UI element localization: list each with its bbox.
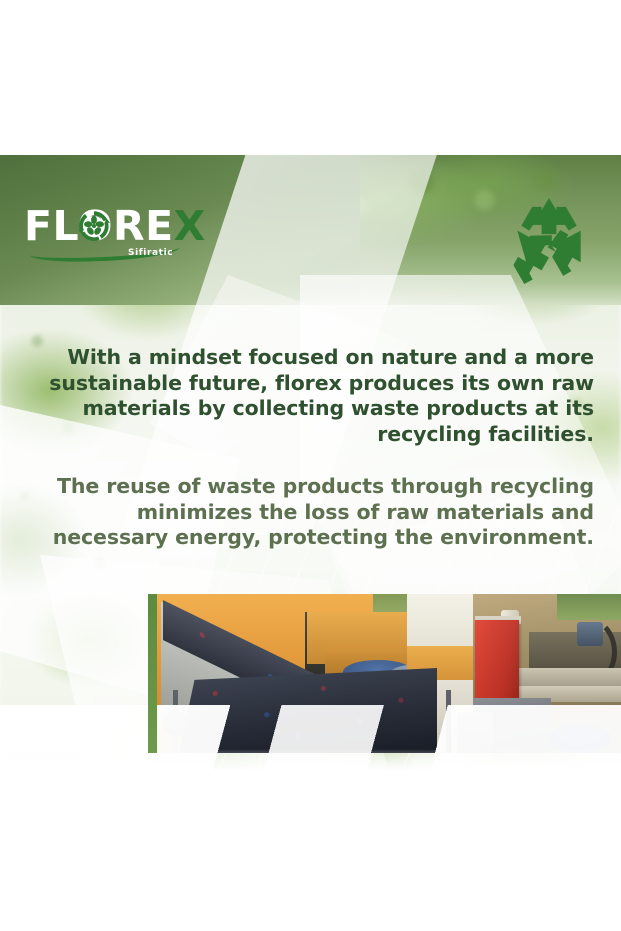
- recycle-flower-icon: [75, 207, 113, 245]
- brand-logo[interactable]: FLOREX: [24, 203, 224, 255]
- paragraph-primary: With a mindset focused on nature and a m…: [28, 345, 594, 447]
- bottom-fade: [0, 749, 621, 775]
- copy-block: With a mindset focused on nature and a m…: [28, 345, 594, 551]
- poster-card: FLOREX: [0, 155, 621, 775]
- recycle-symbol-icon: [499, 195, 599, 290]
- poster-page: FLOREX: [0, 0, 621, 931]
- photo-accent-strip: [148, 594, 157, 753]
- logo-subtitle: Sifiratic: [128, 248, 173, 258]
- paragraph-secondary: The reuse of waste products through recy…: [28, 474, 594, 551]
